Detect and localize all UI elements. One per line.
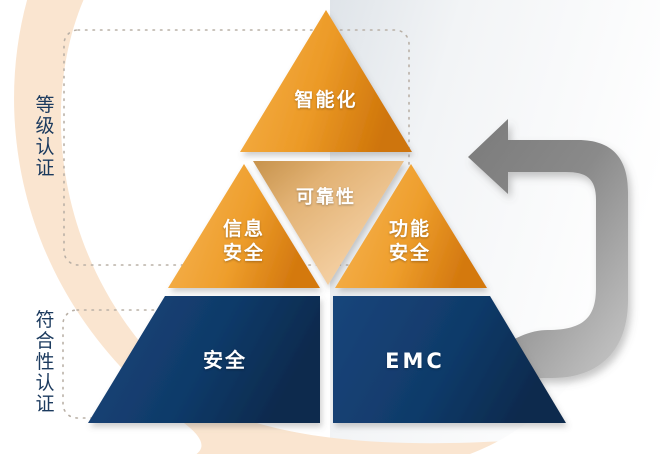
grade-certification-box — [64, 30, 409, 265]
label-grade-char-2: 认 — [32, 137, 58, 158]
label-grade-char-3: 证 — [32, 158, 58, 179]
label-compliance-certification: 符 合 性 认 证 — [32, 310, 58, 415]
dotted-guide-layer — [0, 0, 660, 454]
label-compliance-char-4: 证 — [32, 394, 58, 415]
label-compliance-char-2: 性 — [32, 352, 58, 373]
label-compliance-char-0: 符 — [32, 310, 58, 331]
compliance-certification-box — [63, 310, 183, 418]
label-grade-char-1: 级 — [32, 116, 58, 137]
label-compliance-char-1: 合 — [32, 331, 58, 352]
label-grade-certification: 等 级 认 证 — [32, 95, 58, 179]
diagram-canvas: 等 级 认 证 符 合 性 认 证 智能化 信息 安全 可靠性 功能 安全 安全… — [0, 0, 660, 454]
label-compliance-char-3: 认 — [32, 373, 58, 394]
label-grade-char-0: 等 — [32, 95, 58, 116]
